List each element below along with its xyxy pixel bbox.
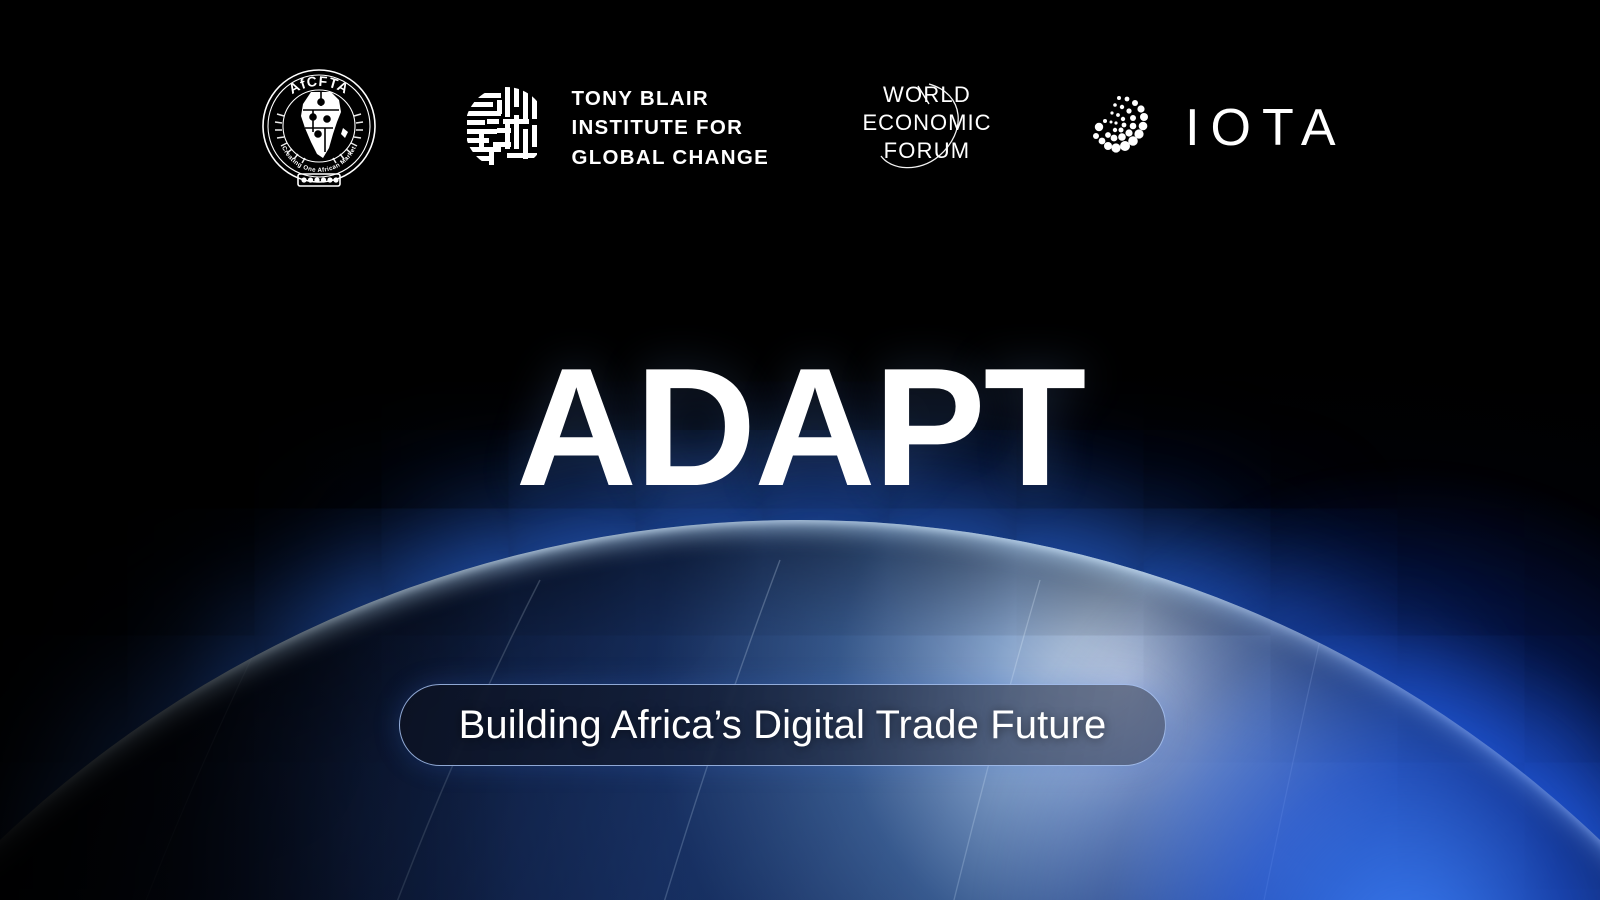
partner-logo-row: AfCFTA Creating One African Market (0, 62, 1600, 194)
tbi-weave-mark-icon (463, 85, 549, 171)
tbi-line-3: GLOBAL CHANGE (571, 143, 769, 172)
tagline-text: Building Africa’s Digital Trade Future (459, 703, 1107, 748)
tbi-line-1: TONY BLAIR (571, 84, 769, 113)
page-title: ADAPT (0, 343, 1600, 511)
logo-world-economic-forum[interactable]: WORLD ECONOMIC FORUM (847, 78, 1007, 178)
tagline-pill: Building Africa’s Digital Trade Future (399, 684, 1166, 766)
afcfta-emblem-icon: AfCFTA Creating One African Market (253, 62, 385, 194)
wef-circle-icon: WORLD ECONOMIC FORUM (847, 78, 1007, 178)
wef-line-1: WORLD (883, 82, 971, 107)
logo-iota[interactable]: IOTA (1085, 91, 1346, 165)
wef-line-2: ECONOMIC (863, 110, 992, 135)
tbi-line-2: INSTITUTE FOR (571, 113, 769, 142)
wef-line-3: FORUM (884, 138, 971, 163)
logo-tony-blair-institute[interactable]: TONY BLAIR INSTITUTE FOR GLOBAL CHANGE (463, 84, 769, 171)
logo-afcfta[interactable]: AfCFTA Creating One African Market (253, 62, 385, 194)
tbi-wordmark: TONY BLAIR INSTITUTE FOR GLOBAL CHANGE (571, 84, 769, 171)
iota-dot-swirl-icon (1085, 91, 1159, 165)
poster-canvas: AfCFTA Creating One African Market (0, 0, 1600, 900)
iota-wordmark: IOTA (1185, 102, 1346, 154)
